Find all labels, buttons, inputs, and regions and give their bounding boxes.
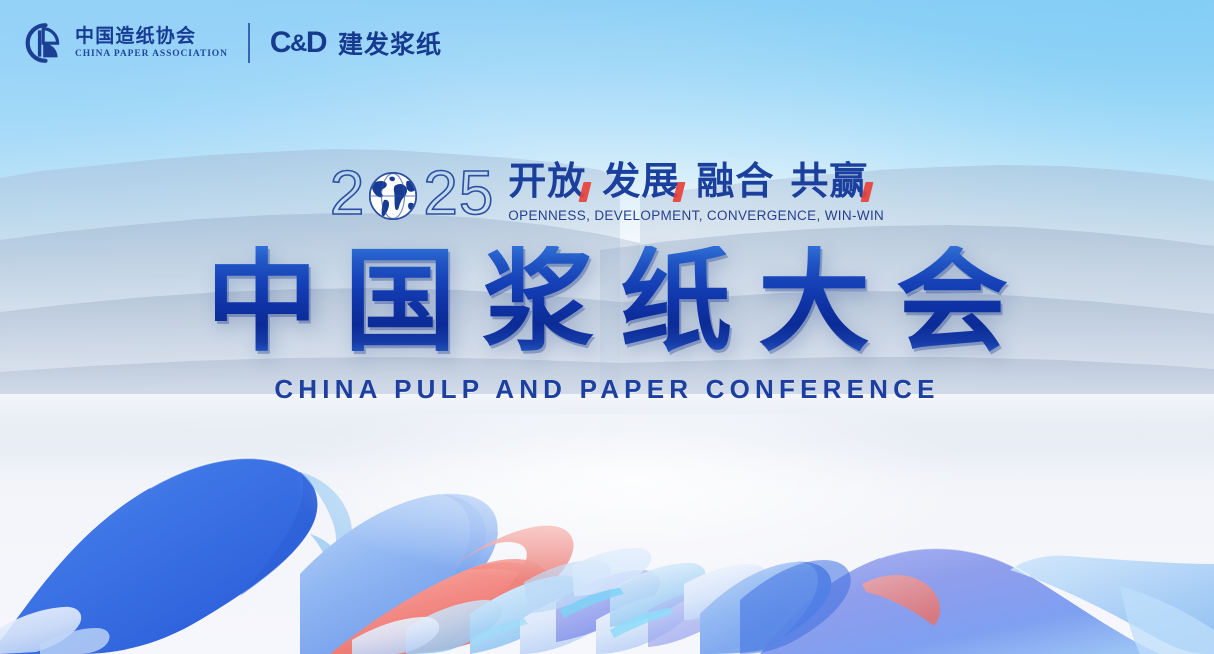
cpa-circle-mark-icon — [24, 22, 66, 64]
slogan-word-kaifang: 开放 — [508, 163, 586, 201]
slogan-en: OPENNESS, DEVELOPMENT, CONVERGENCE, WIN-… — [508, 208, 884, 223]
cnd-wordmark: C & D — [270, 26, 327, 60]
cnd-name-cn: 建发浆纸 — [338, 25, 442, 61]
ribbon-wave-graphic — [0, 414, 1214, 654]
page-subtitle: CHINA PULP AND PAPER CONFERENCE — [0, 374, 1214, 405]
slogan-word-ronghe: 融合 — [696, 163, 774, 201]
globe-icon — [367, 170, 419, 222]
year-slogan-row: 2 — [0, 163, 1214, 225]
logo-divider — [248, 23, 250, 63]
page-title: 中国浆纸大会 — [26, 246, 1214, 358]
cpa-logo-text: 中国造纸协会 CHINA PAPER ASSOCIATION — [75, 27, 228, 60]
conference-banner: 中国造纸协会 CHINA PAPER ASSOCIATION C & D 建发浆… — [0, 0, 1214, 654]
year-2025: 2 — [330, 163, 492, 225]
cnd-letter-c: C — [270, 26, 291, 60]
slogan-word-fazhan: 发展 — [602, 163, 680, 201]
slogan-cn: 开放 发展 融合 共赢 — [508, 163, 884, 201]
cpa-name-cn: 中国造纸协会 — [75, 27, 228, 46]
cnd-logo[interactable]: C & D 建发浆纸 — [270, 25, 442, 61]
main-title-block: 中国浆纸大会 CHINA PULP AND PAPER CONFERENCE — [0, 246, 1214, 405]
header-logo-bar: 中国造纸协会 CHINA PAPER ASSOCIATION C & D 建发浆… — [24, 22, 442, 64]
year-digit-5: 5 — [459, 163, 492, 225]
slogan-block: 开放 发展 融合 共赢 OPENNESS, DEVELOPMENT, CONVE… — [508, 163, 884, 223]
cpa-logo[interactable]: 中国造纸协会 CHINA PAPER ASSOCIATION — [24, 22, 228, 64]
year-digit-2b: 2 — [423, 163, 456, 225]
cpa-name-en: CHINA PAPER ASSOCIATION — [75, 50, 228, 60]
year-digit-2: 2 — [330, 163, 363, 225]
cnd-letter-d: D — [306, 26, 327, 60]
cnd-ampersand: & — [290, 30, 307, 58]
slogan-word-gongying: 共赢 — [790, 163, 868, 201]
